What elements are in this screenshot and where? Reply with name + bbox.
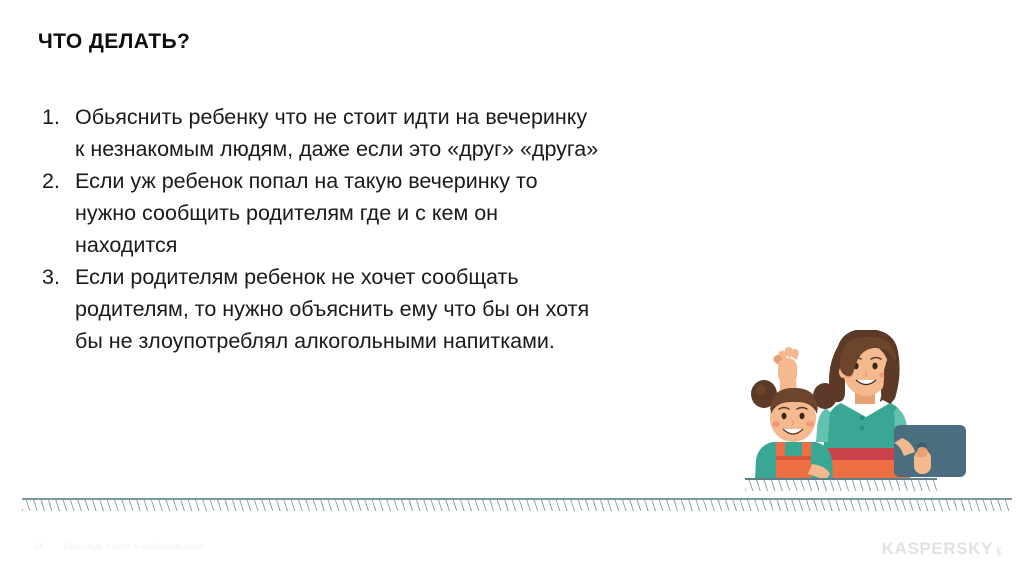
advice-list: 1. Обьяснить ребенку что не стоит идти н…: [42, 101, 732, 357]
list-item: 2. Если уж ребенок попал на такую вечери…: [42, 165, 732, 261]
brand-lab-mark: lab: [994, 547, 1002, 556]
slide-canvas: ЧТО ДЕЛАТЬ? 1. Обьяснить ребенку что не …: [0, 0, 1024, 574]
list-item: 3. Если родителям ребенок не хочет сообщ…: [42, 261, 732, 357]
list-item-marker: 1.: [42, 101, 75, 133]
illustration-svg: [742, 330, 992, 482]
list-item: 1. Обьяснить ребенку что не стоит идти н…: [42, 101, 732, 165]
page-title: ЧТО ДЕЛАТЬ?: [38, 30, 190, 54]
divider-hatch-pattern: [22, 500, 1012, 511]
list-item-marker: 2.: [42, 165, 75, 197]
footer-deck-title: Взрослые и дети в цифровом мире: [64, 542, 204, 551]
kaspersky-lab-logo: KASPERSKY lab: [882, 540, 1002, 557]
list-item-text: Обьяснить ребенку что не стоит идти на в…: [75, 101, 732, 165]
brand-wordmark: KASPERSKY: [882, 540, 993, 557]
slide-footer: 24 Взрослые и дети в цифровом мире: [34, 542, 204, 551]
mother-and-daughter-with-tablet-icon: [742, 330, 992, 482]
footer-page-number: 24: [34, 542, 44, 551]
list-item-text: Если родителям ребенок не хочет сообщать…: [75, 261, 732, 357]
list-item-text: Если уж ребенок попал на такую вечеринку…: [75, 165, 732, 261]
list-item-marker: 3.: [42, 261, 75, 293]
desk-hatch-pattern: [745, 480, 937, 491]
